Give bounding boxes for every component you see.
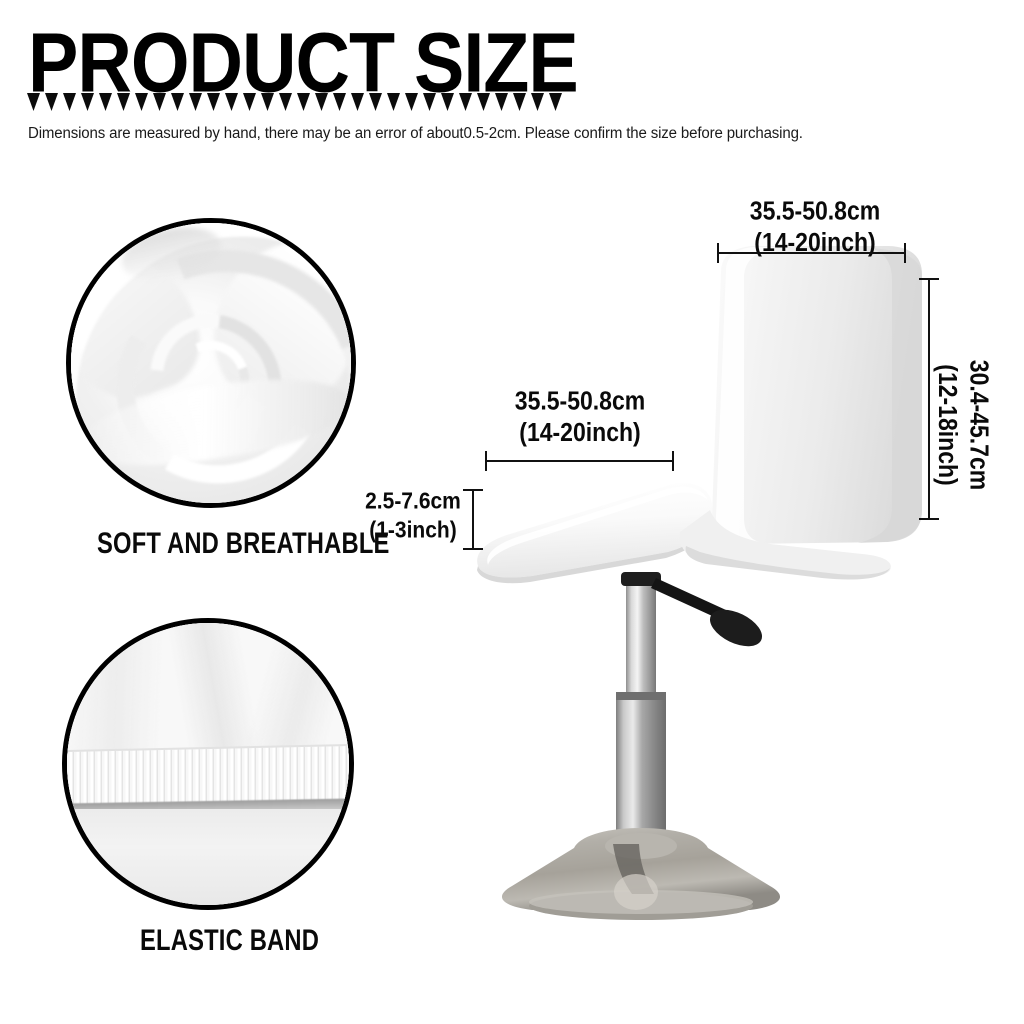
triangle-marker — [135, 93, 148, 111]
triangle-marker — [153, 93, 166, 111]
base-center-highlight — [614, 874, 658, 910]
triangle-marker — [351, 93, 364, 111]
triangle-marker — [531, 93, 544, 111]
triangle-marker — [477, 93, 490, 111]
product-chair-image — [440, 180, 980, 940]
triangle-marker — [297, 93, 310, 111]
measurement-disclaimer: Dimensions are measured by hand, there m… — [28, 124, 803, 143]
dimension-cm: 30.4-45.7cm — [964, 320, 995, 530]
triangle-marker — [171, 93, 184, 111]
triangle-marker — [441, 93, 454, 111]
triangle-marker — [99, 93, 112, 111]
dimension-cm: 35.5-50.8cm — [465, 385, 695, 416]
triangle-marker — [423, 93, 436, 111]
triangle-marker — [261, 93, 274, 111]
triangle-marker — [207, 93, 220, 111]
triangle-marker — [459, 93, 472, 111]
triangle-marker — [549, 93, 562, 111]
product-size-infographic: PRODUCT SIZE Dimensions are measured by … — [0, 0, 1024, 1024]
dimension-label-seat-thickness: 2.5-7.6cm (1-3inch) — [357, 487, 469, 545]
gas-lift-cylinder-ring — [616, 692, 666, 700]
gas-lift-rod — [626, 578, 656, 696]
feature-image-elastic-band — [62, 618, 354, 910]
feature-caption-elastic-band: ELASTIC BAND — [140, 925, 319, 957]
dimension-line-backrest-width — [717, 252, 906, 254]
triangle-marker — [315, 93, 328, 111]
dimension-label-backrest-height: 30.4-45.7cm (12-18inch) — [932, 320, 995, 530]
dimension-line-seat-depth — [485, 460, 674, 462]
dimension-cm: 35.5-50.8cm — [700, 195, 930, 226]
triangle-marker — [117, 93, 130, 111]
dimension-inch: (12-18inch) — [932, 320, 963, 530]
triangle-divider — [27, 93, 567, 115]
triangle-marker — [513, 93, 526, 111]
triangle-marker — [63, 93, 76, 111]
fabric-lower-surface — [67, 809, 349, 905]
triangle-marker — [333, 93, 346, 111]
triangle-marker — [81, 93, 94, 111]
triangle-marker — [225, 93, 238, 111]
chair-seat — [477, 483, 712, 577]
triangle-marker — [279, 93, 292, 111]
dimension-label-seat-depth: 35.5-50.8cm (14-20inch) — [465, 385, 695, 448]
dimension-line-backrest-height — [928, 278, 930, 520]
feature-caption-soft-and-breathable: SOFT AND BREATHABLE — [97, 528, 390, 560]
dimension-label-backrest-width: 35.5-50.8cm (14-20inch) — [700, 195, 930, 258]
triangle-marker — [495, 93, 508, 111]
fabric-upper-drape — [67, 623, 349, 758]
triangle-marker — [45, 93, 58, 111]
elastic-band-photo — [67, 623, 349, 905]
fabric-swirl-photo — [71, 223, 351, 503]
triangle-marker — [27, 93, 40, 111]
dimension-cm: 2.5-7.6cm — [357, 487, 469, 516]
dimension-inch: (1-3inch) — [357, 516, 469, 545]
triangle-marker — [405, 93, 418, 111]
dimension-line-seat-thickness — [472, 489, 474, 550]
triangle-marker — [369, 93, 382, 111]
dimension-inch: (14-20inch) — [465, 416, 695, 447]
triangle-marker — [387, 93, 400, 111]
feature-image-soft-and-breathable — [66, 218, 356, 508]
triangle-marker — [189, 93, 202, 111]
triangle-marker — [243, 93, 256, 111]
gas-lift-cylinder — [616, 692, 666, 842]
